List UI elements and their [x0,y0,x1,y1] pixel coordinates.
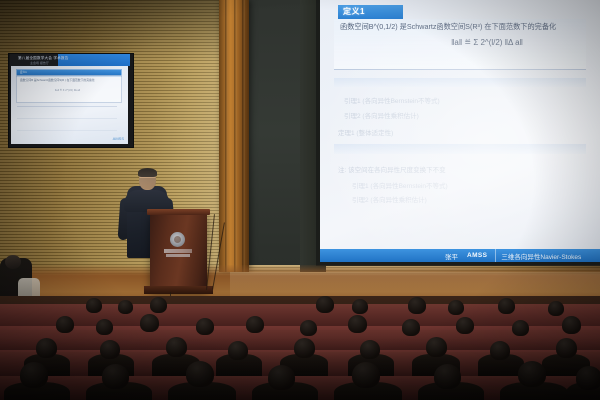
footer-institution: AMSS [467,252,487,259]
podium-name-plate-sub [166,254,190,257]
podium-top-surface [147,209,210,215]
faded-bullet: 引理2 (各向异性乘积估计) [352,194,427,204]
monitor-logo: AMSS [113,136,124,141]
faded-band [334,78,586,87]
monitor-header-subtitle: 主会场 报告厅 [30,61,49,65]
speaker-face-shadow [139,178,156,189]
slide-title-banner: 定义1 [338,5,403,19]
projection-screen: 定义1 函数空间B^(0,1/2) 是Schwartz函数空间S(R³) 在下面… [320,0,600,262]
faded-note: 注: 该空间在各向异性尺度变换下不变 [338,164,446,174]
audience-area [0,296,600,400]
university-crest-icon [170,232,185,247]
faded-band [334,144,586,154]
monitor-rule [17,106,117,107]
audience-shadow-overlay [0,296,600,400]
monitor-definition-text: 函数空间B 是Schwartz函数空间S(R ) 在下面范数下的完备化 [20,78,95,82]
faded-bullet: 引理1 (各向异性Bernstein不等式) [352,180,448,190]
footer-talk-title: 三维各向异性Navier-Stokes [501,251,581,261]
speaker-hair [138,168,157,177]
definition-box: 函数空间B^(0,1/2) 是Schwartz函数空间S(R³) 在下面范数下的… [334,19,586,70]
stage-curtain [219,0,249,272]
faded-bullet: 引理1 (各向异性Bernstein不等式) [344,95,440,105]
confidence-monitor-screen: 定义1 函数空间B 是Schwartz函数空间S(R ) 在下面范数下的完备化 … [11,66,128,144]
podium-name-plate [164,249,192,253]
monitor-definition-box: 函数空间B 是Schwartz函数空间S(R ) 在下面范数下的完备化 ‖a‖ … [16,75,122,103]
footer-divider [495,249,496,262]
lecture-hall-screenshot: 定义1 函数空间B^(0,1/2) 是Schwartz函数空间S(R³) 在下面… [0,0,600,400]
footer-author: 张平 [445,251,458,261]
faded-bullet: 引理2 (各向异性乘积估计) [344,110,419,120]
podium-base [144,286,213,294]
monitor-formula: ‖a‖ ≝ Σ 2^(l/2) ‖Δ a‖ [55,88,80,92]
monitor-rule [17,118,117,119]
curtain-fold [225,0,228,272]
definition-formula: ‖a‖ ≝ Σ 2^(l/2) ‖Δ a‖ [392,38,582,47]
curtain-fold [242,0,245,272]
standing-attendee-head [5,255,21,269]
faded-bullet: 定理1 (整体适定性) [338,127,393,137]
slide-footer-bar: 张平 AMSS 三维各向异性Navier-Stokes [320,249,600,262]
monitor-rule [17,130,117,131]
definition-text: 函数空间B^(0,1/2) 是Schwartz函数空间S(R³) 在下面范数下的… [340,22,584,32]
curtain-fold [234,0,237,272]
